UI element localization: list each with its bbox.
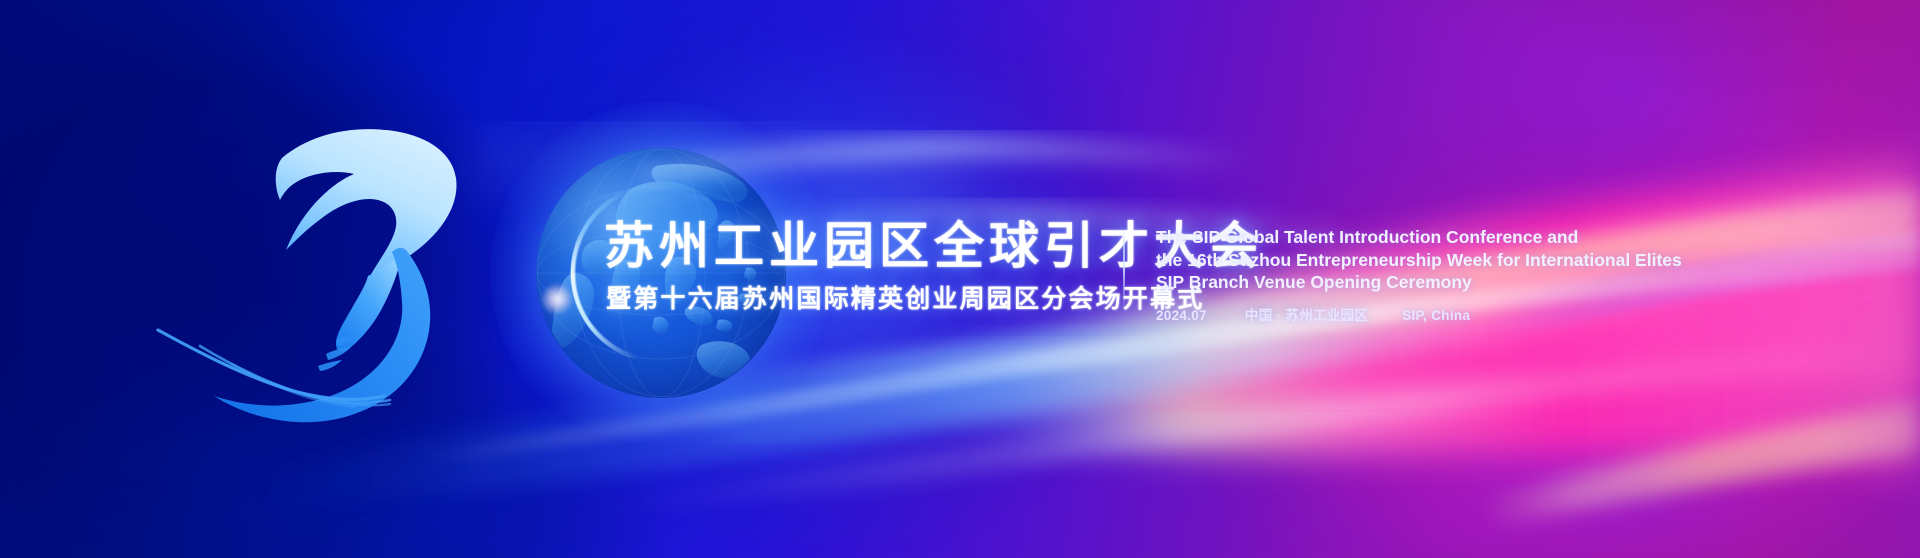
english-line-2: the 16th Suzhou Entrepreneurship Week fo… xyxy=(1156,249,1776,272)
event-location-en: SIP, China xyxy=(1402,308,1470,323)
brush-calligraphy-three xyxy=(140,108,540,428)
english-line-3: SIP Branch Venue Opening Ceremony xyxy=(1156,271,1776,294)
event-banner: 苏州工业园区全球引才大会 暨第十六届苏州国际精英创业周园区分会场开幕式 The … xyxy=(0,0,1920,558)
text-divider xyxy=(1123,230,1125,310)
background-glow-bottom-purple xyxy=(1180,330,1920,558)
event-meta-row: 2024.07 中国 · 苏州工业园区 SIP, China xyxy=(1156,304,1470,324)
page-subtitle: 暨第十六届苏州国际精英创业周园区分会场开幕式 xyxy=(606,284,1204,314)
event-location-cn: 中国 · 苏州工业园区 xyxy=(1245,304,1368,324)
event-date: 2024.07 xyxy=(1156,308,1207,323)
english-line-1: The SIP Global Talent Introduction Confe… xyxy=(1156,226,1776,249)
english-title-block: The SIP Global Talent Introduction Confe… xyxy=(1156,226,1776,294)
banner-text-block: 苏州工业园区全球引才大会 暨第十六届苏州国际精英创业周园区分会场开幕式 The … xyxy=(604,218,1804,338)
